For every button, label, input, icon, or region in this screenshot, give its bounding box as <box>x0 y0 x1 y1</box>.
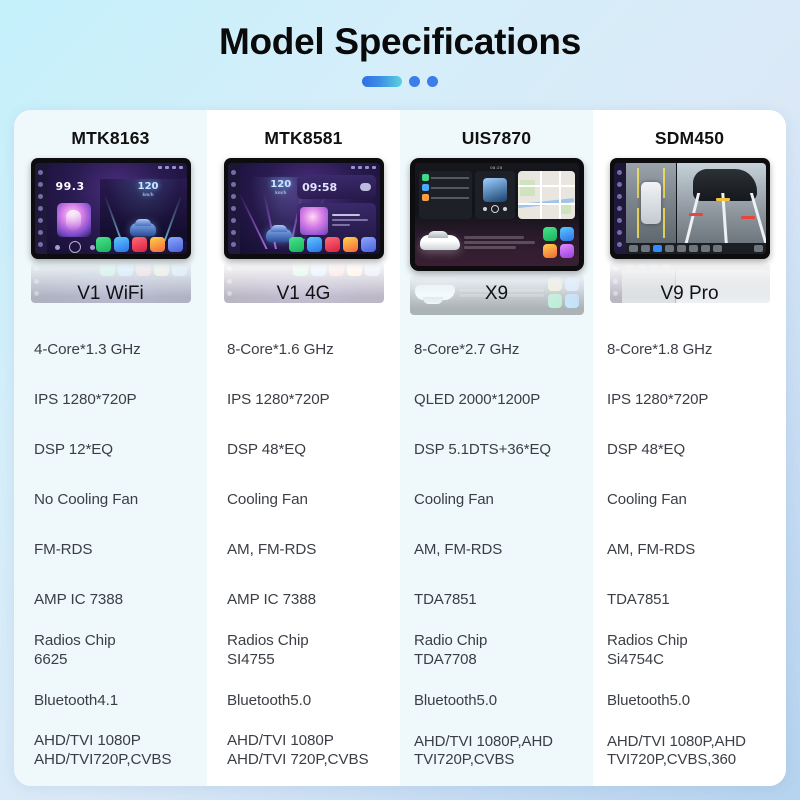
page-title: Model Specifications <box>0 0 800 63</box>
device-side-rail <box>35 163 47 254</box>
vehicle-stats <box>464 236 539 249</box>
spec-radio-band: AM, FM-RDS <box>207 525 400 575</box>
radio-frequency-display: 99.3 <box>56 180 85 193</box>
map-card <box>518 171 574 219</box>
camera-mode-3d[interactable] <box>701 245 710 252</box>
spec-cpu: 4-Core*1.3 GHz <box>14 325 207 375</box>
spec-dsp: DSP 48*EQ <box>207 425 400 475</box>
camera-mode-birdseye[interactable] <box>653 245 662 252</box>
camera-mode-toolbar <box>626 243 766 254</box>
app-dock <box>96 237 183 252</box>
pager-dot-2[interactable] <box>409 76 420 87</box>
app-icon-music <box>325 237 340 252</box>
spec-bluetooth: Bluetooth5.0 <box>207 676 400 726</box>
specifications-card: MTK8163 99.3 120km/h <box>14 110 786 786</box>
app-icon-maps <box>150 237 165 252</box>
spec-display: IPS 1280*720P <box>14 375 207 425</box>
album-art <box>57 203 91 237</box>
spec-cpu: 8-Core*1.8 GHz <box>593 325 786 375</box>
spec-display: IPS 1280*720P <box>593 375 786 425</box>
model-name-label: V9 Pro <box>593 283 786 313</box>
app-icon-maps <box>343 237 358 252</box>
spec-column-mtk8163[interactable]: MTK8163 99.3 120km/h <box>14 110 207 786</box>
spec-cpu: 8-Core*2.7 GHz <box>400 325 593 375</box>
app-icon-settings <box>168 237 183 252</box>
spec-amp-ic: AMP IC 7388 <box>207 576 400 626</box>
spec-list-mtk8581: 8-Core*1.6 GHz IPS 1280*720P DSP 48*EQ C… <box>207 313 400 786</box>
spec-camera: AHD/TVI 1080P,AHD TVI720P,CVBS <box>400 726 593 776</box>
spec-list-sdm450: 8-Core*1.8 GHz IPS 1280*720P DSP 48*EQ C… <box>593 313 786 786</box>
birdseye-camera-view <box>626 163 676 243</box>
spec-display: IPS 1280*720P <box>207 375 400 425</box>
device-side-rail <box>614 163 626 254</box>
app-icon-settings <box>361 237 376 252</box>
camera-settings-button[interactable] <box>754 245 763 252</box>
spec-column-uis7870[interactable]: UIS7870 08:25 <box>400 110 593 786</box>
app-icon-carplay <box>96 237 111 252</box>
spec-camera: AHD/TVI 1080P AHD/TVI 720P,CVBS <box>207 726 400 776</box>
camera-mode-right[interactable] <box>665 245 674 252</box>
camera-mode-record[interactable] <box>713 245 722 252</box>
column-chipset-label: SDM450 <box>593 110 786 158</box>
app-icon-carplay <box>543 227 557 241</box>
spec-bluetooth: Bluetooth4.1 <box>14 676 207 726</box>
spec-display: QLED 2000*1200P <box>400 375 593 425</box>
spec-column-mtk8581[interactable]: MTK8581 120km/h <box>207 110 400 786</box>
pager-dot-3[interactable] <box>427 76 438 87</box>
spec-amp-ic: AMP IC 7388 <box>14 576 207 626</box>
spec-amp-ic: TDA7851 <box>593 576 786 626</box>
spec-camera: AHD/TVI 1080P AHD/TVI720P,CVBS <box>14 726 207 776</box>
music-widget <box>297 203 375 239</box>
spec-dsp: DSP 48*EQ <box>593 425 786 475</box>
spec-column-sdm450[interactable]: SDM450 <box>593 110 786 786</box>
device-screen-content <box>626 163 766 254</box>
clock-widget: 09:58 <box>297 175 375 199</box>
car-graphic <box>420 235 460 250</box>
app-icon-auto <box>560 227 574 241</box>
column-chipset-label: UIS7870 <box>400 110 593 158</box>
head-unit-360-camera-icon <box>610 158 770 259</box>
spec-bluetooth: Bluetooth5.0 <box>593 676 786 726</box>
pager-active-pill[interactable] <box>362 76 402 87</box>
spec-cpu: 8-Core*1.6 GHz <box>207 325 400 375</box>
spec-dsp: DSP 12*EQ <box>14 425 207 475</box>
spec-amp-ic: TDA7851 <box>400 576 593 626</box>
spec-radio-band: AM, FM-RDS <box>400 525 593 575</box>
pagination-indicator[interactable] <box>0 76 800 87</box>
spec-radio-band: FM-RDS <box>14 525 207 575</box>
device-screen-content: 99.3 120km/h <box>47 163 187 254</box>
spec-radio-chip: Radios Chip Si4754C <box>593 626 786 676</box>
camera-mode-rear[interactable] <box>677 245 686 252</box>
spec-bluetooth: Bluetooth5.0 <box>400 676 593 726</box>
model-name-label: V1 WiFi <box>14 283 207 313</box>
camera-mode-left[interactable] <box>641 245 650 252</box>
device-screen-content: 120km/h 09:58 <box>240 163 380 254</box>
head-unit-purple-clock-icon: 120km/h 09:58 <box>224 158 384 259</box>
column-chipset-label: MTK8163 <box>14 110 207 158</box>
model-name-label: V1 4G <box>207 283 400 313</box>
spec-camera: AHD/TVI 1080P,AHD TVI720P,CVBS,360 <box>593 726 786 776</box>
app-icon-auto <box>114 237 129 252</box>
model-name-label: X9 <box>400 283 593 313</box>
spec-radio-chip: Radio Chip TDA7708 <box>400 626 593 676</box>
device-screen-content: 08:25 <box>415 163 579 266</box>
app-icon-maps <box>543 244 557 258</box>
spec-radio-chip: Radios Chip SI4755 <box>207 626 400 676</box>
column-chipset-label: MTK8581 <box>207 110 400 158</box>
app-icon-music <box>132 237 147 252</box>
spec-cooling: No Cooling Fan <box>14 475 207 525</box>
spec-radio-chip: Radios Chip 6625 <box>14 626 207 676</box>
head-unit-wide-map-icon: 08:25 <box>410 158 584 271</box>
speed-display: 120km/h <box>138 181 159 197</box>
app-icon-auto <box>307 237 322 252</box>
head-unit-purple-radio-icon: 99.3 120km/h <box>31 158 191 259</box>
playback-controls <box>55 241 95 253</box>
camera-mode-wide[interactable] <box>689 245 698 252</box>
status-bar: 08:25 <box>415 163 579 171</box>
spec-cooling: Cooling Fan <box>400 475 593 525</box>
spec-cooling: Cooling Fan <box>207 475 400 525</box>
app-icon-assistant <box>560 244 574 258</box>
app-icon-carplay <box>289 237 304 252</box>
rear-camera-view <box>677 163 766 243</box>
spec-list-uis7870: 8-Core*2.7 GHz QLED 2000*1200P DSP 5.1DT… <box>400 313 593 786</box>
speed-display: 120km/h <box>270 179 291 195</box>
device-side-rail <box>228 163 240 254</box>
spec-cooling: Cooling Fan <box>593 475 786 525</box>
camera-mode-front[interactable] <box>629 245 638 252</box>
spec-radio-band: AM, FM-RDS <box>593 525 786 575</box>
spec-list-mtk8163: 4-Core*1.3 GHz IPS 1280*720P DSP 12*EQ N… <box>14 313 207 786</box>
app-dock <box>543 227 574 258</box>
app-dock <box>289 237 376 252</box>
spec-dsp: DSP 5.1DTS+36*EQ <box>400 425 593 475</box>
music-player-card <box>475 171 516 219</box>
quick-settings-card <box>419 171 472 219</box>
